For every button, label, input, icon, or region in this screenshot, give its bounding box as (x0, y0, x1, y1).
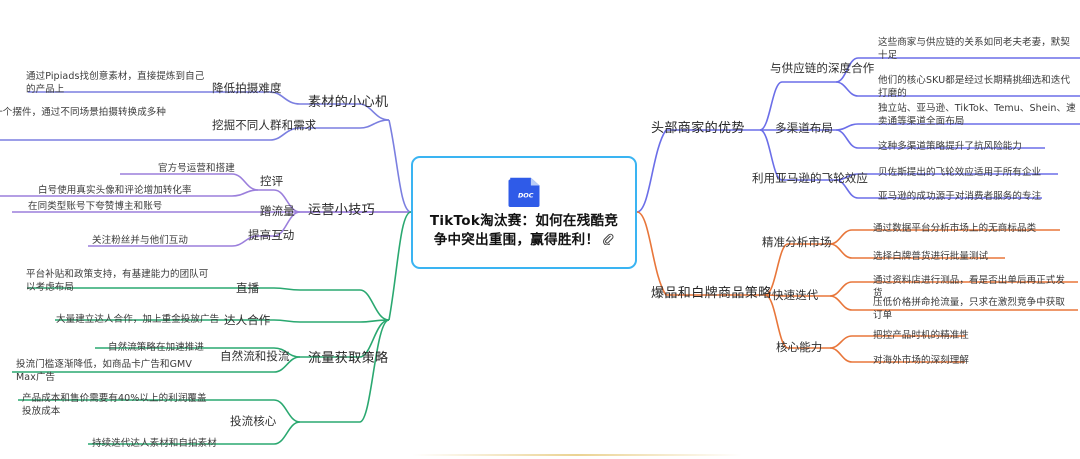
leaf-data-platform-unbranded[interactable]: 通过数据平台分析市场上的无商标品类 (873, 222, 1036, 235)
lead-boost-interaction[interactable]: 提高互动 (248, 229, 294, 242)
lead-comment-control[interactable]: 控评 (260, 175, 283, 188)
leaf-overseas-market-insight[interactable]: 对海外市场的深刻理解 (873, 354, 969, 367)
leaf-praise-similar-accounts[interactable]: 在同类型账号下夸赞博主和账号 (28, 200, 162, 213)
lead-fast-iteration[interactable]: 快速迭代 (772, 289, 818, 302)
leaf-organic-strategy-accelerating[interactable]: 自然流策略在加速推进 (108, 341, 204, 354)
lead-creator-partnership[interactable]: 达人合作 (224, 314, 270, 327)
lead-paid-traffic-core[interactable]: 投流核心 (230, 415, 276, 428)
lead-dig-audience-needs[interactable]: 挖掘不同人群和需求 (212, 119, 316, 132)
doc-file-icon: DOC (505, 176, 543, 207)
branch-label-material[interactable]: 素材的小心机 (308, 96, 388, 109)
leaf-official-account-setup[interactable]: 官方号运营和搭建 (158, 162, 235, 175)
branch-label-top-sellers[interactable]: 头部商家的优势 (651, 122, 745, 135)
lead-livestream[interactable]: 直播 (236, 282, 259, 295)
leaf-bezos-flywheel[interactable]: 贝佐斯提出的飞轮效应适用于所有企业 (878, 166, 1041, 179)
leaf-follow-and-engage-fans[interactable]: 关注粉丝并与他们互动 (92, 234, 188, 247)
lead-organic-and-paid[interactable]: 自然流和投流 (220, 350, 290, 363)
leaf-pipiads-creative[interactable]: 通过Pipiads找创意素材，直接提炼到自己的产品上 (26, 70, 208, 96)
mindmap-canvas[interactable]: DOC TikTok淘汰赛：如何在残酷竞争中突出重围，赢得胜利！ 素材的小心机 … (0, 0, 1080, 459)
leaf-white-account-avatar[interactable]: 白号使用真实头像和评论增加转化率 (38, 184, 192, 197)
svg-text:DOC: DOC (518, 191, 534, 199)
branch-label-white-label[interactable]: 爆品和白牌商品策略 (651, 287, 772, 300)
leaf-timing-precision[interactable]: 把控产品时机的精准性 (873, 329, 969, 342)
leaf-old-couple-relationship[interactable]: 这些商家与供应链的关系如同老夫老妻，默契十足 (878, 36, 1076, 62)
bottom-divider (412, 454, 742, 456)
leaf-amazon-customer-focus[interactable]: 亚马逊的成功源于对消费者服务的专注 (878, 190, 1041, 203)
center-title-text: TikTok淘汰赛：如何在残酷竞争中突出重围，赢得胜利！ (430, 213, 618, 248)
leaf-40-percent-margin[interactable]: 产品成本和售价需要有40%以上的利润覆盖投放成本 (22, 392, 212, 418)
lead-amazon-flywheel[interactable]: 利用亚马逊的飞轮效应 (752, 172, 868, 185)
leaf-white-label-batch-test[interactable]: 选择白牌普货进行批量测试 (873, 250, 988, 263)
branch-label-operation[interactable]: 运营小技巧 (308, 204, 375, 217)
paperclip-icon[interactable] (602, 233, 614, 245)
leaf-risk-resistance[interactable]: 这种多渠道策略提升了抗风险能力 (878, 140, 1022, 153)
lead-precise-market-analysis[interactable]: 精准分析市场 (762, 236, 832, 249)
leaf-iterate-creator-assets[interactable]: 持续迭代达人素材和自拍素材 (92, 437, 217, 450)
leaf-platform-subsidy-policy[interactable]: 平台补贴和政策支持，有基建能力的团队可以考虑布局 (26, 268, 216, 294)
leaf-ad-threshold-lowering[interactable]: 投流门槛逐渐降低，如商品卡广告和GMV Max广告 (16, 358, 196, 384)
page-title: TikTok淘汰赛：如何在残酷竞争中突出重围，赢得胜利！ (413, 212, 635, 250)
mindmap-center-node[interactable]: DOC TikTok淘汰赛：如何在残酷竞争中突出重围，赢得胜利！ (411, 156, 637, 269)
leaf-mass-creator-plus-ads[interactable]: 大量建立达人合作，加上重金投放广告 (56, 313, 219, 326)
branch-label-traffic[interactable]: 流量获取策略 (308, 352, 388, 365)
leaf-core-sku-iteration[interactable]: 他们的核心SKU都是经过长期精挑细选和迭代打磨的 (878, 74, 1076, 100)
lead-supply-chain-partnership[interactable]: 与供应链的深度合作 (770, 62, 874, 75)
lead-multichannel-layout[interactable]: 多渠道布局 (775, 122, 833, 135)
leaf-multi-scene-shooting[interactable]: 同样一个摆件，通过不同场景拍摄转换成多种用途 (0, 106, 174, 132)
leaf-channels-list[interactable]: 独立站、亚马逊、TikTok、Temu、Shein、速卖通等渠道全面布局 (878, 102, 1076, 128)
lead-core-capability[interactable]: 核心能力 (776, 341, 822, 354)
lead-lower-shoot-difficulty[interactable]: 降低拍摄难度 (212, 82, 282, 95)
leaf-low-price-grab-traffic[interactable]: 压低价格拼命抢流量，只求在激烈竞争中获取订单 (873, 296, 1073, 322)
lead-traffic-leeching[interactable]: 蹭流量 (260, 205, 295, 218)
